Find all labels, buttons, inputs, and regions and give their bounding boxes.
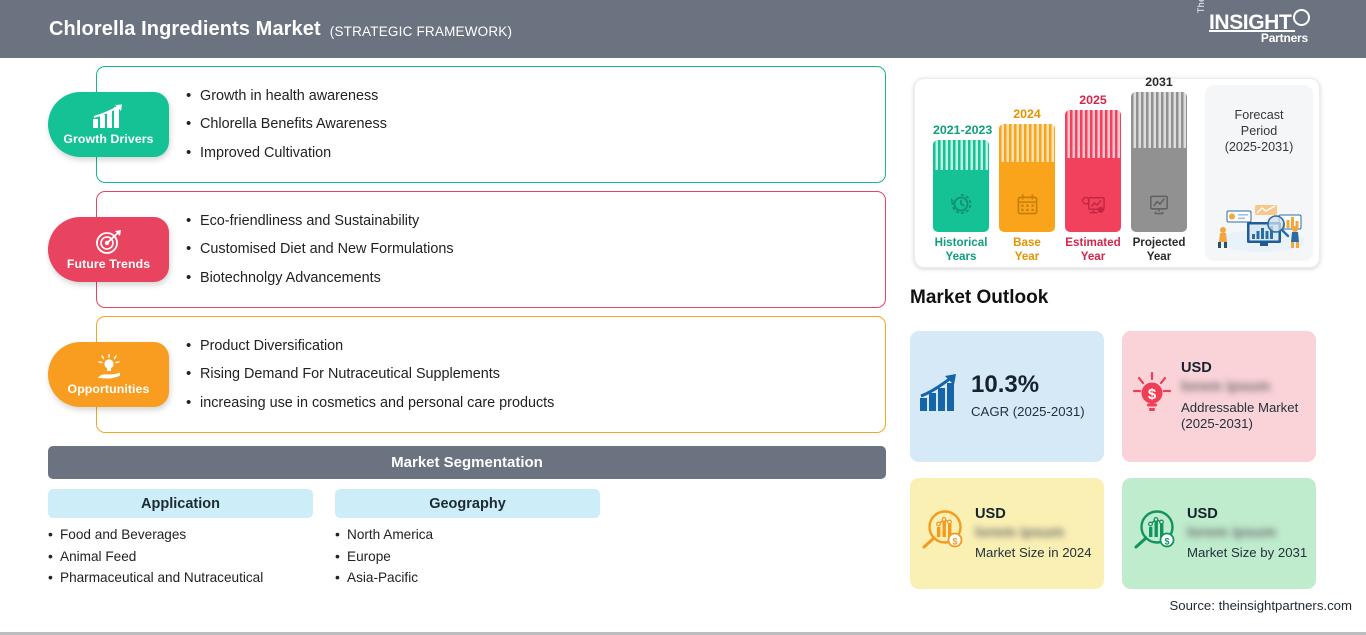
bullet-item: Customised Diet and New Formulations	[186, 242, 454, 256]
bar-stripe-pattern	[933, 140, 989, 170]
badge-growth-drivers[interactable]: Growth Drivers	[48, 92, 169, 157]
bar-name-line2: Year	[1065, 250, 1121, 263]
redacted-value: lorem ipsum	[1181, 379, 1308, 396]
redacted-value: lorem ipsum	[975, 525, 1096, 542]
outlook-card-market-size-2031: $ USD lorem ipsum Market Size by 2031	[1122, 478, 1316, 589]
list-item: North America	[335, 528, 600, 542]
redacted-value: lorem ipsum	[1187, 525, 1308, 542]
card-label: Market Size in 2024	[975, 545, 1096, 562]
logo-the-text: The	[1196, 0, 1206, 13]
segmentation-column-geography: Geography North America Europe Asia-Paci…	[335, 489, 600, 593]
lightbulb-hand-icon	[92, 354, 126, 380]
list-item: Food and Beverages	[48, 528, 313, 542]
bar-body	[999, 124, 1055, 232]
list-item: Europe	[335, 550, 600, 564]
presentation-chart-icon	[1147, 193, 1171, 221]
bullet-list: Eco-friendliness and Sustainability Cust…	[186, 191, 454, 308]
bullet-item: Improved Cultivation	[186, 146, 387, 160]
list-item: Pharmaceutical and Nutraceutical	[48, 571, 313, 585]
forecast-line1: Forecast	[1225, 107, 1294, 123]
list-item: Animal Feed	[48, 550, 313, 564]
page-title-text: Chlorella Ingredients Market	[49, 18, 321, 40]
forecast-line3: (2025-2031)	[1225, 139, 1294, 155]
bar-year-label: 2025	[1065, 93, 1121, 107]
section-growth-drivers: Growth Drivers Growth in health awarenes…	[96, 66, 886, 183]
segmentation-header: Application	[48, 489, 313, 518]
currency-label: USD	[1187, 506, 1308, 522]
data-analysis-illustration	[1209, 197, 1309, 253]
left-column: Growth Drivers Growth in health awarenes…	[0, 58, 900, 635]
market-segmentation-title: Market Segmentation	[48, 446, 886, 479]
timeline-bar-estimated: 2025	[1065, 93, 1121, 263]
bar-body	[1131, 92, 1187, 232]
bar-name-line2: Year	[999, 250, 1055, 263]
bar-stripe-pattern	[999, 124, 1055, 162]
outlook-card-addressable-market: $ USD lorem ipsum Addressable Market (20…	[1122, 331, 1316, 462]
section-opportunities: Opportunities Product Diversification Ri…	[96, 316, 886, 433]
bullet-item: Chlorella Benefits Awareness	[186, 117, 387, 131]
badge-future-trends[interactable]: Future Trends	[48, 217, 169, 282]
bar-body	[933, 140, 989, 232]
bar-year-label: 2021-2023	[933, 123, 989, 137]
bar-name-line1: Projected	[1131, 236, 1187, 249]
bar-chart-growth-icon	[918, 374, 964, 419]
calendar-icon	[1016, 193, 1039, 221]
svg-text:$: $	[952, 537, 957, 547]
timeline-bar-historical: 2021-2023 Historic	[933, 123, 989, 263]
magnifier-bar-chart-dollar-icon: $	[1130, 508, 1180, 559]
logo-partners-text: Partners	[1261, 31, 1308, 45]
card-label: Market Size by 2031	[1187, 545, 1308, 562]
timeline-card: 2021-2023 Historic	[914, 78, 1320, 268]
bullet-list: Product Diversification Rising Demand Fo…	[186, 316, 554, 433]
insight-partners-logo: The INSIGHT Partners	[1196, 9, 1310, 50]
badge-label: Future Trends	[67, 257, 150, 271]
bullet-list: Growth in health awareness Chlorella Ben…	[186, 66, 387, 183]
currency-label: USD	[975, 506, 1096, 522]
bar-name-line1: Estimated	[1065, 236, 1121, 249]
timeline-bar-base: 2024	[999, 107, 1055, 263]
card-label: Addressable Market (2025-2031)	[1181, 400, 1308, 433]
bar-stripe-pattern	[1065, 110, 1121, 158]
bullet-item: Eco-friendliness and Sustainability	[186, 214, 454, 228]
estimate-settings-chart-icon	[1081, 193, 1106, 221]
section-future-trends: Future Trends Eco-friendliness and Susta…	[96, 191, 886, 308]
cagr-value: 10.3%	[971, 373, 1096, 397]
clock-history-icon	[949, 192, 973, 221]
bullet-item: Rising Demand For Nutraceutical Suppleme…	[186, 367, 554, 381]
right-column: 2021-2023 Historic	[900, 58, 1366, 635]
logo-ring-icon	[1293, 9, 1310, 26]
currency-label: USD	[1181, 360, 1308, 376]
bar-year-label: 2024	[999, 107, 1055, 121]
target-dartboard-icon	[94, 229, 124, 255]
list-item: Asia-Pacific	[335, 571, 600, 585]
magnifier-bar-chart-dollar-icon: $	[918, 508, 968, 559]
bullet-item: increasing use in cosmetics and personal…	[186, 396, 554, 410]
source-attribution: Source: theinsightpartners.com	[1169, 598, 1352, 613]
infographic-page: Chlorella Ingredients Market(STRATEGIC F…	[0, 0, 1366, 635]
segmentation-list: Food and Beverages Animal Feed Pharmaceu…	[48, 528, 313, 585]
bullet-item: Product Diversification	[186, 339, 554, 353]
badge-label: Growth Drivers	[63, 132, 153, 146]
page-header: Chlorella Ingredients Market(STRATEGIC F…	[0, 0, 1366, 58]
segmentation-header: Geography	[335, 489, 600, 518]
lightbulb-dollar-icon: $	[1130, 371, 1174, 422]
svg-text:$: $	[1164, 537, 1169, 547]
page-subtitle: (STRATEGIC FRAMEWORK)	[330, 24, 512, 39]
segmentation-column-application: Application Food and Beverages Animal Fe…	[48, 489, 313, 593]
bar-body	[1065, 110, 1121, 232]
bullet-item: Biotechnolgy Advancements	[186, 271, 454, 285]
timeline-bars: 2021-2023 Historic	[931, 79, 1211, 269]
outlook-card-market-size-2024: $ USD lorem ipsum Market Size in 2024	[910, 478, 1104, 589]
segmentation-list: North America Europe Asia-Pacific	[335, 528, 600, 585]
outlook-card-cagr: 10.3% CAGR (2025-2031)	[910, 331, 1104, 462]
badge-opportunities[interactable]: Opportunities	[48, 342, 169, 407]
market-outlook-title: Market Outlook	[910, 287, 1048, 309]
svg-text:$: $	[1148, 386, 1157, 403]
bar-stripe-pattern	[1131, 92, 1187, 148]
bar-name-line1: Historical	[933, 236, 989, 249]
bullet-item: Growth in health awareness	[186, 89, 387, 103]
cagr-label: CAGR (2025-2031)	[971, 404, 1096, 421]
bar-name-line1: Base	[999, 236, 1055, 249]
timeline-bar-projected: 2031	[1131, 75, 1187, 263]
bar-name-line2: Year	[1131, 250, 1187, 263]
badge-label: Opportunities	[68, 382, 150, 396]
page-title: Chlorella Ingredients Market(STRATEGIC F…	[49, 18, 512, 41]
growth-chart-arrow-icon	[91, 104, 127, 130]
forecast-line2: Period	[1225, 123, 1294, 139]
bar-name-line2: Years	[933, 250, 989, 263]
forecast-period-panel: Forecast Period (2025-2031)	[1205, 85, 1313, 261]
bar-year-label: 2031	[1131, 75, 1187, 89]
